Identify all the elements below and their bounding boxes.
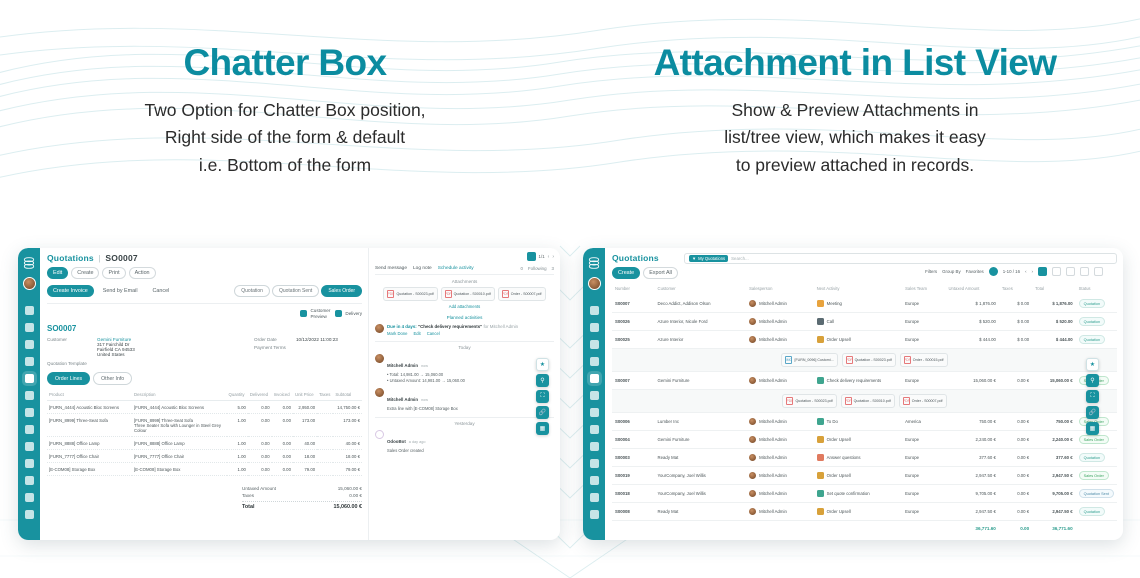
cell-next-activity: Order Upsell (814, 467, 902, 485)
kanban-view-icon[interactable] (1052, 267, 1061, 276)
favorites-button[interactable]: Favorites (966, 269, 984, 274)
untaxed-amount-value: 15,060.00 € (338, 486, 362, 491)
table-row[interactable]: [FURN_4444] Acoustic Bloc Screens [FURN_… (47, 401, 362, 414)
attachment-chip[interactable]: PDF Quotation - S00010.pdf (441, 287, 495, 301)
avatar-bot (375, 430, 384, 439)
expand-icon[interactable]: ⛶ (1086, 390, 1099, 403)
cell-salesperson: Mitchell Admin (746, 313, 814, 331)
breadcrumb: Quotations | SO0007 (47, 253, 362, 263)
chatter-message: Mitchell Adminnow • Total: 14,981.00 → 1… (375, 354, 554, 384)
cell-total: 15,060.00 € (1032, 372, 1075, 390)
app-sidebar-right (583, 248, 605, 540)
pdf-icon: PDF (903, 397, 910, 405)
sidebar-icon-inventory[interactable] (590, 374, 599, 383)
form-panel: Quotations | SO0007 Edit Create Print Ac… (40, 248, 560, 540)
status-quotation-sent[interactable]: Quotation Sent (272, 285, 319, 297)
cell-next-activity: Order Upsell (814, 431, 902, 449)
sidebar-icon-employees[interactable] (590, 459, 599, 468)
grid-icon[interactable]: ▦ (1086, 422, 1099, 435)
cell-untaxed: $ 1,876.00 (946, 295, 999, 313)
todo-icon (817, 418, 824, 425)
col-sales-team[interactable]: Sales Team (902, 282, 945, 295)
sidebar-icon-employees[interactable] (25, 459, 34, 468)
sidebar-icon-inventory[interactable] (25, 374, 34, 383)
pager-prev[interactable]: ‹ (548, 254, 550, 260)
table-row[interactable]: S00018 YourCompany, Joel Willis Mitchell… (612, 485, 1117, 503)
headline-right: Attachment in List View Show & Preview A… (570, 44, 1140, 180)
form-view-screenshot: Quotations | SO0007 Edit Create Print Ac… (18, 248, 560, 540)
app-logo-icon (21, 255, 37, 271)
table-row[interactable]: S00004 Gemini Furniture Mitchell Admin O… (612, 431, 1117, 449)
avatar (749, 300, 756, 307)
customer-preview-button[interactable]: Customer Preview (300, 308, 330, 319)
attachment-chip[interactable]: PDFQuotation - S00023.pdf (782, 394, 836, 408)
mark-done-button[interactable]: Mark Done (387, 331, 407, 336)
cell-status: Quotation (1076, 313, 1117, 331)
order-lines-header-row: Product Description Quantity Delivered I… (47, 389, 362, 401)
message-author: Mitchell Admin (387, 397, 418, 402)
message-author: OdooBot (387, 439, 406, 444)
headline-row: Chatter Box Two Option for Chatter Box p… (0, 0, 1140, 180)
tab-other-info[interactable]: Other Info (93, 372, 132, 385)
cell-invoiced: 0.00 (272, 463, 293, 476)
pager-label: 1-10 / 16 (1003, 269, 1020, 274)
col-untaxed-amount[interactable]: Untaxed Amount (946, 282, 999, 295)
untaxed-amount-label: Untaxed Amount (242, 486, 276, 491)
avatar (749, 490, 756, 497)
cell-number: S00018 (612, 485, 655, 503)
sidebar-icon-project[interactable] (590, 425, 599, 434)
attachment-count[interactable]: 0 (521, 266, 523, 271)
cell-total: 750.00 € (1032, 413, 1075, 431)
cell-customer: Azure Interior, Nicole Ford (655, 313, 747, 331)
col-product[interactable]: Product (47, 389, 132, 401)
status-badge: Quotation (1079, 507, 1105, 516)
pager-next[interactable]: › (552, 254, 554, 260)
action-button[interactable]: Action (129, 267, 156, 279)
calendar-icon (817, 377, 824, 384)
list-toolbar: Create Export All (612, 267, 678, 279)
attachment-row: PDFQuotation - S00023.pdf PDFQuotation -… (612, 390, 1117, 413)
settings-icon[interactable] (989, 267, 998, 276)
record-title: SO0007 (47, 324, 362, 333)
table-row[interactable]: S00003 Ready Mat Mitchell Admin Answer q… (612, 449, 1117, 467)
sidebar-icon-manufacturing[interactable] (25, 408, 34, 417)
col-subtotal[interactable]: Subtotal (333, 389, 362, 401)
sidebar-icon-crm[interactable] (25, 323, 34, 332)
attachment-name: Quotation - S00023.pdf (795, 399, 832, 403)
send-message-button[interactable]: Send message (375, 266, 407, 271)
cell-taxes: $ 0.00 (999, 313, 1032, 331)
link-icon[interactable]: 🔗 (1086, 406, 1099, 419)
cell-delivered: 0.00 (248, 437, 272, 450)
cell-quantity: 1.00 (227, 437, 248, 450)
facet-label: My Quotations (698, 256, 725, 261)
table-row[interactable]: [E-COM08] Storage Box [E-COM08] Storage … (47, 463, 362, 476)
cell-number: S00004 (612, 431, 655, 449)
headline-left-title: Chatter Box (0, 44, 570, 83)
attachment-name: Order - S00007.pdf (511, 292, 542, 296)
search-facet-my-quotations[interactable]: ▼ My Quotations (689, 255, 728, 262)
cell-invoiced: 0.00 (272, 414, 293, 437)
message-time: a day ago (409, 440, 426, 444)
check-icon (817, 490, 824, 497)
pdf-icon: PDF (445, 290, 452, 298)
cell-total: 2,947.50 € (1032, 467, 1075, 485)
sidebar-icon-timesheets[interactable] (590, 442, 599, 451)
cell-invoiced: 0.00 (272, 437, 293, 450)
cell-status: Quotation (1076, 449, 1117, 467)
cell-customer: Azure Interior (655, 331, 747, 349)
filter-bar: Filters Group By Favorites 1-10 / 16 ‹ › (684, 267, 1117, 276)
cell-total: $ 444.00 (1032, 331, 1075, 349)
col-status[interactable]: Status (1076, 282, 1117, 295)
meeting-icon (817, 300, 824, 307)
list-view-icon[interactable] (1038, 267, 1047, 276)
col-taxes[interactable]: Taxes (999, 282, 1032, 295)
edit-activity-button[interactable]: Edit (413, 331, 420, 336)
call-icon (817, 318, 824, 325)
form-toolbar: Edit Create Print Action (47, 267, 362, 279)
table-row[interactable]: [FURN_8888] Office Lamp [FURN_8888] Offi… (47, 437, 362, 450)
print-button[interactable]: Print (102, 267, 125, 279)
order-date-label: Order Date (254, 337, 290, 342)
day-separator-yesterday: Yesterday (375, 417, 554, 426)
table-row[interactable]: S00006 Lumber Inc Mitchell Admin To Do A… (612, 413, 1117, 431)
pager-next[interactable]: › (1032, 269, 1033, 274)
attachment-row: IMG[FURN_0096] Customi... PDFQuotation -… (612, 349, 1117, 372)
cell-unit-price: 2,950.00 (293, 401, 317, 414)
cell-sales-team: Europe (902, 372, 945, 390)
total-value: 15,060.00 € (334, 504, 362, 510)
cell-salesperson: Mitchell Admin (746, 449, 814, 467)
create-invoice-button[interactable]: Create Invoice (47, 285, 94, 297)
cell-salesperson: Mitchell Admin (746, 431, 814, 449)
col-quantity[interactable]: Quantity (227, 389, 248, 401)
col-delivered[interactable]: Delivered (248, 389, 272, 401)
sidebar-icon-settings[interactable] (25, 510, 34, 519)
graph-view-icon[interactable] (1094, 267, 1103, 276)
breadcrumb-record: SO0007 (105, 253, 137, 263)
cell-customer: Deco Addict, Addison Olson (655, 295, 747, 313)
cell-subtotal: 40.00 € (333, 437, 362, 450)
cell-subtotal: 18.00 € (333, 450, 362, 463)
cell-unit-price: 79.00 (293, 463, 317, 476)
message-time: now (421, 398, 428, 402)
world-icon (300, 310, 307, 317)
cell-delivered: 0.00 (248, 463, 272, 476)
cell-sales-team: Europe (902, 467, 945, 485)
sidebar-icon-website[interactable] (590, 493, 599, 502)
table-row[interactable]: S00025 Azure Interior Mitchell Admin Ord… (612, 331, 1117, 349)
expand-icon[interactable]: ⛶ (536, 390, 549, 403)
message-author: Mitchell Admin (387, 363, 418, 368)
activity-view-icon[interactable] (1108, 267, 1117, 276)
cell-untaxed: $ 520.00 (946, 313, 999, 331)
cell-number: S00006 (612, 413, 655, 431)
log-note-button[interactable]: Log note (413, 266, 432, 271)
cell-salesperson: Mitchell Admin (746, 467, 814, 485)
attachment-chip[interactable]: PDFOrder - S00015.pdf (900, 353, 948, 367)
schedule-activity-button[interactable]: Schedule activity (438, 266, 474, 271)
day-separator-today: Today (375, 341, 554, 350)
cell-customer: Gemini Furniture (655, 431, 747, 449)
status-badge: Quotation (1079, 299, 1105, 308)
cell-taxes: 0.00 € (999, 485, 1032, 503)
attachment-chip[interactable]: PDFQuotation - S00023.pdf (842, 353, 896, 367)
pdf-icon: PDF (387, 290, 394, 298)
group-by-button[interactable]: Group By (942, 269, 961, 274)
table-row[interactable]: S00008 Ready Mat Mitchell Admin Order Up… (612, 503, 1117, 521)
cancel-activity-button[interactable]: Cancel (427, 331, 440, 336)
col-salesperson[interactable]: Salesperson (746, 282, 814, 295)
following-button[interactable]: Following (528, 266, 547, 271)
sidebar-icon-invoicing[interactable] (590, 357, 599, 366)
attachment-chip[interactable]: PDFOrder - S00007.pdf (899, 394, 947, 408)
status-sales-order[interactable]: Sales Order (321, 285, 362, 297)
sidebar-icon-settings[interactable] (590, 510, 599, 519)
cell-customer: Gemini Furniture (655, 372, 747, 390)
cell-next-activity: Answer questions (814, 449, 902, 467)
sidebar-icon-website[interactable] (25, 493, 34, 502)
table-row[interactable]: S00026 Azure Interior, Nicole Ford Mitch… (612, 313, 1117, 331)
cell-next-activity: To Do (814, 413, 902, 431)
cancel-button[interactable]: Cancel (147, 285, 176, 297)
customer-label: Customer (47, 337, 89, 357)
activity-assignee: for Mitchell Admin (483, 324, 518, 329)
col-unit-price[interactable]: Unit Price (293, 389, 317, 401)
cell-sales-team: Europe (902, 295, 945, 313)
edit-button[interactable]: Edit (47, 267, 68, 279)
headline-left: Chatter Box Two Option for Chatter Box p… (0, 44, 570, 180)
cell-description: [FURN_8888] Office Lamp (132, 437, 227, 450)
quotation-template-label: Quotation Template (47, 361, 254, 366)
upsell-icon (817, 436, 824, 443)
sidebar-icon-manufacturing[interactable] (590, 408, 599, 417)
message-time: now (421, 364, 428, 368)
chatter-action-bar: Send message Log note Schedule activity … (375, 266, 554, 275)
cell-description: [FURN_8999] Three-Seat Sofa Three Seater… (132, 414, 227, 437)
star-icon[interactable]: ★ (536, 358, 549, 371)
col-customer[interactable]: Customer (655, 282, 747, 295)
status-badge: Sales Order (1079, 435, 1109, 444)
attachment-name: Quotation - S00023.pdf (855, 358, 892, 362)
col-taxes[interactable]: Taxes (317, 389, 333, 401)
order-date-value: 10/12/2022 11:00:23 (296, 337, 338, 342)
cell-salesperson: Mitchell Admin (746, 503, 814, 521)
cell-total: $ 520.00 (1032, 313, 1075, 331)
cell-next-activity: Order Upsell (814, 331, 902, 349)
pivot-view-icon[interactable] (1080, 267, 1089, 276)
chatter-message: OdooBota day ago Sales Order created (375, 430, 554, 454)
sidebar-icon-project[interactable] (25, 425, 34, 434)
cell-delivered: 0.00 (248, 414, 272, 437)
cell-number: S00007 (612, 295, 655, 313)
grid-icon[interactable]: ▦ (536, 422, 549, 435)
attachment-chip[interactable]: PDFQuotation - S00010.pdf (841, 394, 895, 408)
status-badge: Quotation Sent (1079, 489, 1114, 498)
attachment-name: Order - S00007.pdf (912, 399, 943, 403)
sidebar-avatar[interactable] (588, 277, 601, 290)
add-attachments-button[interactable]: Add attachments (375, 304, 554, 309)
table-row[interactable]: S00019 YourCompany, Joel Willis Mitchell… (612, 467, 1117, 485)
attachments-title: Attachments (375, 279, 554, 284)
status-quotation[interactable]: Quotation (234, 285, 270, 297)
chatter-panel: 1/1 ‹ › Send message Log note Schedule a… (368, 248, 560, 540)
status-badge: Quotation (1079, 317, 1105, 326)
cell-untaxed: 750.00 € (946, 413, 999, 431)
message-body: Sales Order created (387, 448, 425, 454)
col-next-activity[interactable]: Next Activity (814, 282, 902, 295)
cell-status: Quotation (1076, 503, 1117, 521)
cell-untaxed: 2,947.50 € (946, 503, 999, 521)
cell-next-activity: Order Upsell (814, 503, 902, 521)
col-description[interactable]: Description (132, 389, 227, 401)
col-invoiced[interactable]: Invoiced (272, 389, 293, 401)
pdf-icon: PDF (845, 397, 852, 405)
table-row[interactable]: S00007 Gemini Furniture Mitchell Admin C… (612, 372, 1117, 390)
cell-taxes: 0.00 € (999, 467, 1032, 485)
cell-number: S00025 (612, 331, 655, 349)
sidebar-icon-crm[interactable] (590, 323, 599, 332)
cell-subtotal: 79.00 € (333, 463, 362, 476)
search-input[interactable]: ▼ My Quotations Search... (684, 253, 1117, 264)
create-button[interactable]: Create (612, 267, 640, 279)
order-lines-table: Product Description Quantity Delivered I… (47, 389, 362, 476)
cell-taxes (317, 463, 333, 476)
cell-total: 2,947.50 € (1032, 503, 1075, 521)
cell-sales-team: Europe (902, 431, 945, 449)
delivery-label: Delivery (345, 311, 362, 317)
customer-preview-label: Customer Preview (310, 308, 330, 319)
activity-due: Due in 4 days: (387, 324, 417, 329)
settings-icon[interactable] (527, 252, 536, 261)
pdf-icon: PDF (786, 397, 793, 405)
cell-status: Quotation (1076, 331, 1117, 349)
filters-button[interactable]: Filters (925, 269, 937, 274)
cell-next-activity: Check delivery requirements (814, 372, 902, 390)
form-action-buttons: Create Invoice Send by Email Cancel (47, 285, 175, 297)
table-row[interactable]: S00007 Deco Addict, Addison Olson Mitche… (612, 295, 1117, 313)
cell-status: Quotation (1076, 295, 1117, 313)
export-all-button[interactable]: Export All (643, 267, 678, 279)
send-by-email-button[interactable]: Send by Email (97, 285, 144, 297)
customer-country: United States (97, 352, 135, 357)
sidebar-icon-messages[interactable] (590, 306, 599, 315)
cell-taxes (317, 414, 333, 437)
follower-count[interactable]: 3 (552, 266, 554, 271)
cell-customer: Ready Mat (655, 449, 747, 467)
attachment-chip[interactable]: PDF Order - S00007.pdf (498, 287, 546, 301)
avatar (749, 418, 756, 425)
table-row[interactable]: [FURN_8999] Three-Seat Sofa [FURN_8999] … (47, 414, 362, 437)
total-label: Total (242, 504, 254, 510)
cell-total: 377.60 € (1032, 449, 1075, 467)
cell-number: S00003 (612, 449, 655, 467)
truck-icon (335, 310, 342, 317)
create-button[interactable]: Create (71, 267, 99, 279)
sidebar-icon-recruitment[interactable] (25, 476, 34, 485)
breadcrumb-app[interactable]: Quotations (612, 253, 659, 263)
sidebar-icon-invoicing[interactable] (25, 357, 34, 366)
cell-taxes: 0.00 € (999, 372, 1032, 390)
pdf-icon: PDF (904, 356, 911, 364)
filter-icon: ▼ (692, 256, 696, 261)
sidebar-icon-sales[interactable] (25, 340, 34, 349)
star-icon[interactable]: ★ (1086, 358, 1099, 371)
cell-salesperson: Mitchell Admin (746, 372, 814, 390)
search-icon[interactable]: ⚲ (1086, 374, 1099, 387)
attachment-name: Quotation - S00010.pdf (854, 399, 891, 403)
delivery-button[interactable]: Delivery (335, 308, 362, 319)
sidebar-icon-purchase[interactable] (25, 391, 34, 400)
table-row[interactable]: [FURN_7777] Office Chair [FURN_7777] Off… (47, 450, 362, 463)
col-total[interactable]: Total (1032, 282, 1075, 295)
taxes-label: Taxes (242, 493, 254, 498)
activity-subject: "Check delivery requirements" (418, 324, 482, 329)
activity-item: Due in 4 days: "Check delivery requireme… (375, 324, 554, 336)
calendar-view-icon[interactable] (1066, 267, 1075, 276)
question-icon (817, 454, 824, 461)
app-logo-icon (586, 255, 602, 271)
sidebar-avatar[interactable] (23, 277, 36, 290)
list-view-screenshot: Quotations Create Export All ▼ My Quotat… (583, 248, 1123, 540)
summary-untaxed: 36,771.60 (946, 521, 999, 536)
attachment-chip[interactable]: PDF Quotation - S00023.pdf (383, 287, 437, 301)
avatar (375, 354, 384, 363)
cell-total: $ 1,876.00 (1032, 295, 1075, 313)
cell-untaxed: 2,240.00 € (946, 431, 999, 449)
status-badge: Quotation (1079, 453, 1105, 462)
cell-description: [FURN_7777] Office Chair (132, 450, 227, 463)
headline-right-title: Attachment in List View (570, 44, 1140, 83)
cell-taxes: $ 0.00 (999, 295, 1032, 313)
cell-quantity: 1.00 (227, 450, 248, 463)
link-icon[interactable]: 🔗 (536, 406, 549, 419)
sidebar-icon-purchase[interactable] (590, 391, 599, 400)
upsell-icon (817, 336, 824, 343)
cell-taxes: 0.00 € (999, 431, 1032, 449)
cell-salesperson: Mitchell Admin (746, 485, 814, 503)
attachment-chip[interactable]: IMG[FURN_0096] Customi... (781, 353, 837, 367)
col-number[interactable]: Number (612, 282, 655, 295)
sidebar-icon-messages[interactable] (25, 306, 34, 315)
pager-prev[interactable]: ‹ (1025, 269, 1026, 274)
cell-status: Quotation Sent (1076, 485, 1117, 503)
summary-taxes: 0.00 (999, 521, 1032, 536)
sidebar-icon-recruitment[interactable] (590, 476, 599, 485)
cell-salesperson: Mitchell Admin (746, 295, 814, 313)
cell-product: [FURN_4444] Acoustic Bloc Screens (47, 401, 132, 414)
attachment-name: Order - S00015.pdf (913, 358, 944, 362)
sidebar-icon-sales[interactable] (590, 340, 599, 349)
cell-sales-team: America (902, 413, 945, 431)
attachment-chip-row: PDFQuotation - S00023.pdf PDFQuotation -… (612, 390, 1117, 413)
search-icon[interactable]: ⚲ (536, 374, 549, 387)
message-body: • Total: 14,981.00 → 15,060.00 • Untaxed… (387, 372, 465, 384)
cell-invoiced: 0.00 (272, 401, 293, 414)
cell-untaxed: 9,705.00 € (946, 485, 999, 503)
cell-taxes: $ 0.00 (999, 331, 1032, 349)
sidebar-icon-timesheets[interactable] (25, 442, 34, 451)
smart-button-row: Customer Preview Delivery (47, 308, 362, 319)
tab-order-lines[interactable]: Order Lines (47, 372, 90, 385)
cell-next-activity: Call (814, 313, 902, 331)
breadcrumb-app[interactable]: Quotations (47, 253, 94, 263)
cell-customer: Ready Mat (655, 503, 747, 521)
avatar (749, 472, 756, 479)
app-sidebar-left (18, 248, 40, 540)
